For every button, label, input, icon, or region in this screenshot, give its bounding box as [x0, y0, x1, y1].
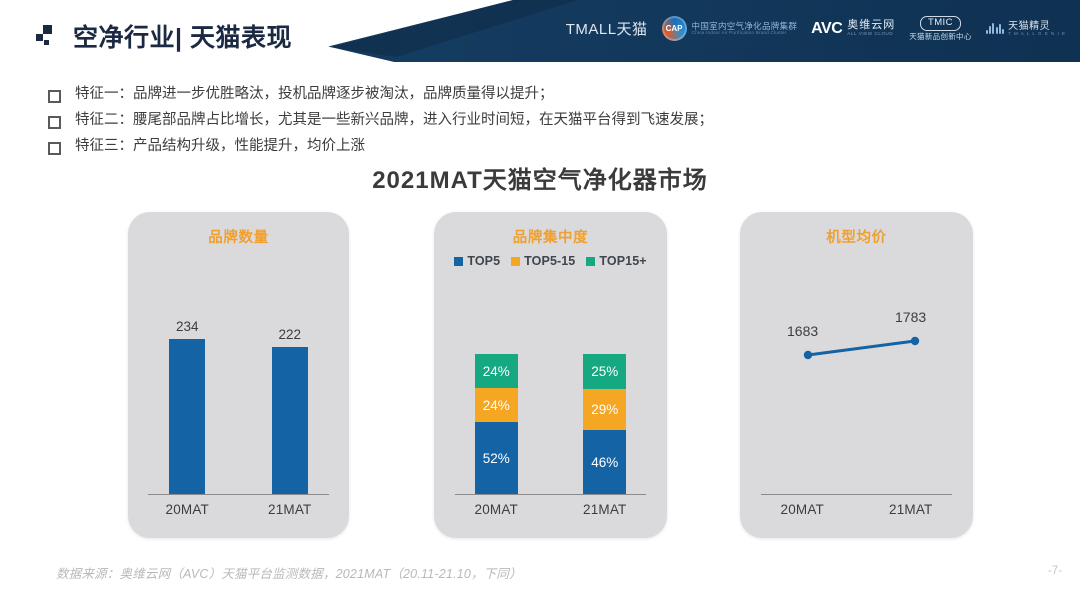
x-axis-labels: 20MAT 21MAT: [128, 502, 349, 517]
bar-item: 222: [272, 327, 308, 494]
chart-section-title: 2021MAT天猫空气净化器市场: [0, 160, 1080, 195]
legend-label: TOP15+: [599, 254, 646, 268]
genie-name-sub: T M A L L G E N I E: [1008, 32, 1066, 37]
legend-item-top15-plus: TOP15+: [586, 254, 646, 268]
legend-swatch-green: [586, 257, 595, 266]
x-tick-20mat: 20MAT: [165, 502, 209, 517]
chart-panels: 品牌数量 234 222 20MAT 21MAT 品牌集中度: [0, 212, 1080, 540]
data-point-20mat: [804, 351, 812, 359]
cap-text-block: 中国室内空气净化品牌集群 China Indoor Air Purificati…: [692, 22, 798, 36]
plot-area-concentration: 24% 24% 52% 25% 29% 46%: [434, 354, 667, 494]
logo-tmic: TMIC 天猫新品创新中心: [909, 16, 971, 41]
cap-badge-text: CAP: [666, 24, 683, 33]
tmic-mark-text: TMIC: [920, 16, 961, 30]
stacked-bar-group: 24% 24% 52% 25% 29% 46%: [434, 354, 667, 494]
legend-item-top5: TOP5: [454, 254, 500, 268]
x-axis-line: [148, 494, 329, 495]
segment-top15plus: 24%: [475, 354, 518, 388]
tmic-name-cn: 天猫新品创新中心: [909, 33, 971, 41]
legend-swatch-orange: [511, 257, 520, 266]
cap-badge-icon: CAP: [662, 16, 687, 41]
legend-label: TOP5-15: [524, 254, 575, 268]
bar-value-label: 222: [278, 327, 301, 342]
panel-brand-count: 品牌数量 234 222 20MAT 21MAT: [128, 212, 349, 538]
legend-item-top5-15: TOP5-15: [511, 254, 575, 268]
data-source-note: 数据来源：奥维云网（AVC）天猫平台监测数据，2021MAT（20.11-21.…: [56, 563, 522, 582]
logo-tmall: TMALL天猫: [566, 18, 648, 39]
bar-group: 234 222: [128, 308, 349, 494]
logo-tmall-text: TMALL天猫: [566, 18, 648, 39]
x-tick-21mat: 21MAT: [889, 502, 933, 517]
bar-20mat: [169, 339, 205, 494]
panel-title: 品牌集中度: [434, 226, 667, 247]
x-tick-20mat: 20MAT: [780, 502, 824, 517]
plot-area-average-price: 1683 1783: [740, 212, 973, 538]
stacked-bar-21mat: 25% 29% 46%: [583, 354, 626, 494]
page-number: -7-: [1048, 565, 1062, 577]
point-label-21mat: 1783: [895, 309, 926, 325]
bullet-text: 特征三：产品结构升级，性能提升，均价上涨: [75, 136, 365, 157]
segment-top5: 46%: [583, 430, 626, 494]
cap-name-en: China Indoor Air Purification Brand Clus…: [692, 31, 798, 36]
point-label-20mat: 1683: [787, 323, 818, 339]
square-bullet-icon: [48, 116, 61, 129]
line-chart-svg: [740, 212, 973, 538]
x-tick-21mat: 21MAT: [583, 502, 627, 517]
list-item: 特征三：产品结构升级，性能提升，均价上涨: [48, 136, 713, 157]
logo-cap: CAP 中国室内空气净化品牌集群 China Indoor Air Purifi…: [662, 16, 798, 41]
x-axis-labels: 20MAT 21MAT: [434, 502, 667, 517]
x-tick-20mat: 20MAT: [474, 502, 518, 517]
bullet-text: 特征一：品牌进一步优胜略汰，投机品牌逐步被淘汰，品牌质量得以提升；: [75, 84, 554, 105]
logo-tmall-genie: 天猫精灵 T M A L L G E N I E: [986, 21, 1066, 37]
legend-swatch-blue: [454, 257, 463, 266]
chart-legend: TOP5 TOP5-15 TOP15+: [434, 254, 667, 268]
page-title-row: 空净行业| 天猫表现: [36, 18, 292, 54]
x-axis-line: [761, 494, 952, 495]
list-item: 特征一：品牌进一步优胜略汰，投机品牌逐步被淘汰，品牌质量得以提升；: [48, 84, 713, 105]
bar-item: 234: [169, 319, 205, 494]
avc-text-block: 奥维云网 ALL VIEW CLOUD: [847, 20, 895, 36]
x-axis-labels: 20MAT 21MAT: [740, 502, 973, 517]
panel-brand-concentration: 品牌集中度 TOP5 TOP5-15 TOP15+ 24% 24% 52%: [434, 212, 667, 538]
x-axis-line: [455, 494, 646, 495]
panel-average-price: 机型均价 1683 1783 20MAT 21MAT: [740, 212, 973, 538]
feature-bullet-list: 特征一：品牌进一步优胜略汰，投机品牌逐步被淘汰，品牌质量得以提升； 特征二：腰尾…: [48, 84, 713, 162]
square-bullet-icon: [48, 142, 61, 155]
segment-top15plus: 25%: [583, 354, 626, 389]
panel-title: 品牌数量: [128, 226, 349, 247]
avc-mark-text: AVC: [811, 20, 842, 38]
soundwave-icon: [986, 23, 1004, 34]
avc-name-sub: ALL VIEW CLOUD: [847, 32, 895, 37]
logo-avc: AVC 奥维云网 ALL VIEW CLOUD: [811, 20, 895, 38]
square-bullet-icon: [48, 90, 61, 103]
list-item: 特征二：腰尾部品牌占比增长，尤其是一些新兴品牌，进入行业时间短，在天猫平台得到飞…: [48, 110, 713, 131]
segment-top5: 52%: [475, 422, 518, 494]
stacked-bar-20mat: 24% 24% 52%: [475, 354, 518, 494]
segment-top5-15: 29%: [583, 389, 626, 430]
x-tick-21mat: 21MAT: [268, 502, 312, 517]
bullet-text: 特征二：腰尾部品牌占比增长，尤其是一些新兴品牌，进入行业时间短，在天猫平台得到飞…: [75, 110, 713, 131]
legend-label: TOP5: [467, 254, 500, 268]
bar-21mat: [272, 347, 308, 494]
page-title: 空净行业| 天猫表现: [73, 18, 292, 54]
plot-area-brand-count: 234 222: [128, 308, 349, 494]
data-point-21mat: [911, 337, 919, 345]
bar-value-label: 234: [176, 319, 199, 334]
trend-line: [808, 341, 915, 355]
genie-name-cn: 天猫精灵: [1008, 21, 1066, 32]
segment-top5-15: 24%: [475, 388, 518, 422]
squares-decoration-icon: [36, 23, 60, 49]
genie-text-block: 天猫精灵 T M A L L G E N I E: [1008, 21, 1066, 37]
